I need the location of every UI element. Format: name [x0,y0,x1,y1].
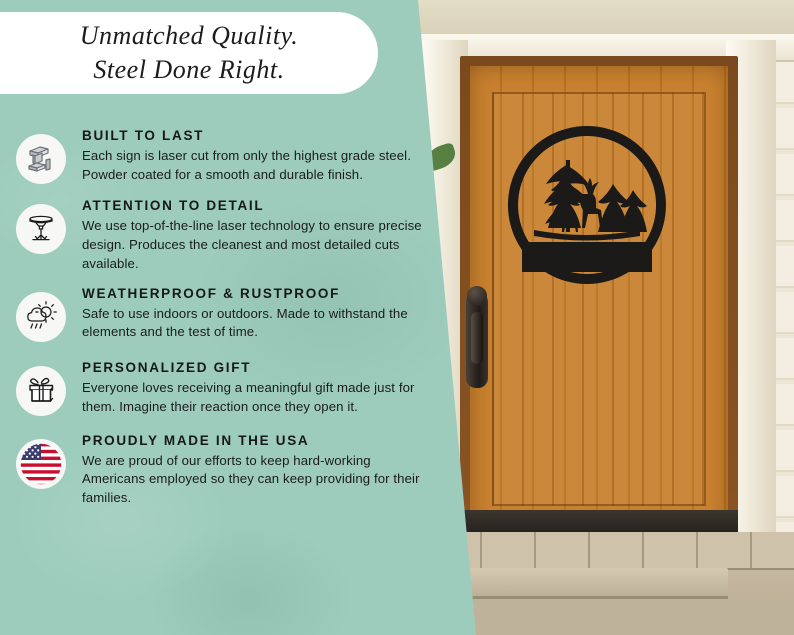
feature-body: Everyone loves receiving a meaningful gi… [82,379,434,416]
soffit [374,0,794,34]
usa-flag-icon [16,439,66,489]
laser-cutter-icon [16,204,66,254]
feature-body: We use top-of-the-line laser technology … [82,217,434,273]
feature-title: PROUDLY MADE IN THE USA [82,433,434,448]
feature-item-made-in-usa: PROUDLY MADE IN THE USA We are proud of … [0,423,470,508]
headline-banner: Unmatched Quality. Steel Done Right. [0,12,378,94]
feature-item-weatherproof: WEATHERPROOF & RUSTPROOF Safe to use ind… [0,276,470,342]
feature-title: BUILT TO LAST [82,128,434,143]
door-threshold [460,510,738,532]
feature-body: Each sign is laser cut from only the hig… [82,147,434,184]
feature-title: PERSONALIZED GIFT [82,360,434,375]
feature-text-block: PERSONALIZED GIFT Everyone loves receivi… [66,350,434,416]
steel-i-beam-icon [16,134,66,184]
feature-list: BUILT TO LAST Each sign is laser cut fro… [0,118,470,514]
feature-body: We are proud of our efforts to keep hard… [82,452,434,508]
sun-rain-cloud-icon [16,292,66,342]
feature-text-block: PROUDLY MADE IN THE USA We are proud of … [66,423,434,508]
feature-item-built-to-last: BUILT TO LAST Each sign is laser cut fro… [0,118,470,184]
feature-text-block: ATTENTION TO DETAIL We use top-of-the-li… [66,188,434,273]
headline-line-2: Steel Done Right. [93,53,284,87]
feature-title: ATTENTION TO DETAIL [82,198,434,213]
feature-text-block: BUILT TO LAST Each sign is laser cut fro… [66,118,434,184]
headline-line-1: Unmatched Quality. [80,19,298,53]
infographic-root: MURPHY Unmatched Quality. Steel Done Rig… [0,0,794,635]
feature-title: WEATHERPROOF & RUSTPROOF [82,286,434,301]
gift-box-icon [16,366,66,416]
metal-monogram-sign: MURPHY [502,120,672,290]
feature-item-personalized-gift: PERSONALIZED GIFT Everyone loves receivi… [0,350,470,416]
feature-text-block: WEATHERPROOF & RUSTPROOF Safe to use ind… [66,276,434,342]
feature-body: Safe to use indoors or outdoors. Made to… [82,305,434,342]
door-grip-handle [471,312,483,364]
sign-name-text: MURPHY [535,245,638,269]
feature-item-attention-to-detail: ATTENTION TO DETAIL We use top-of-the-li… [0,188,470,273]
door-knob-icon [467,286,487,306]
